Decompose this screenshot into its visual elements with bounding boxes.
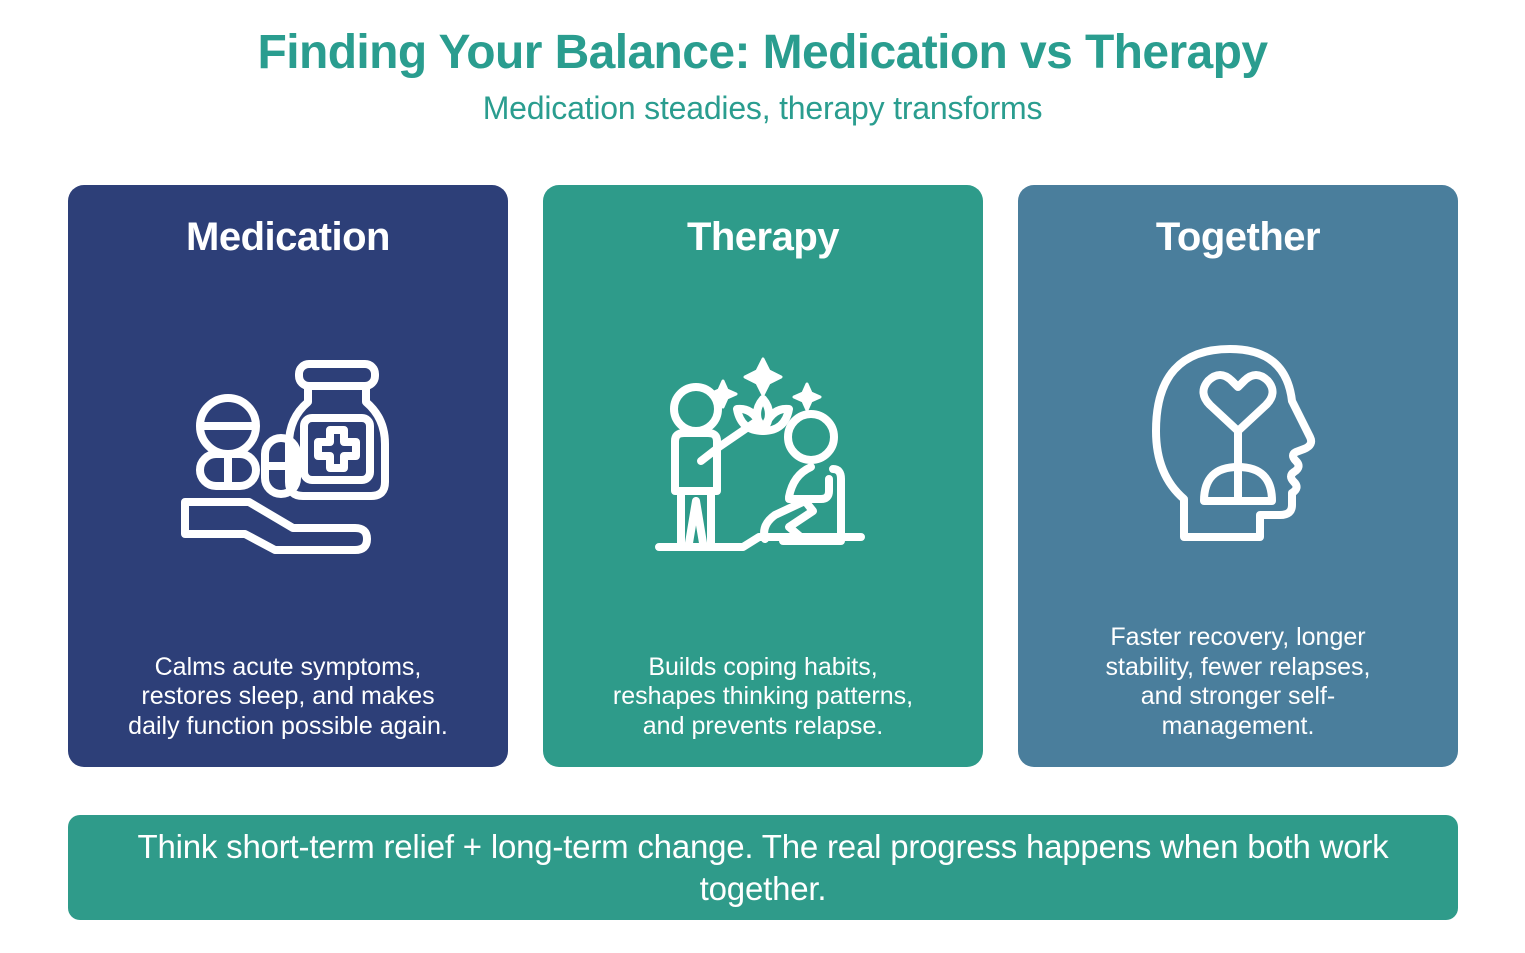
cards-row: Medication bbox=[68, 185, 1458, 767]
card-together-description: Faster recovery, longer stability, fewer… bbox=[1080, 623, 1396, 741]
card-therapy-title: Therapy bbox=[687, 215, 839, 259]
card-together: Together Faster recovery, longer stabili… bbox=[1018, 185, 1458, 767]
card-medication: Medication bbox=[68, 185, 508, 767]
card-medication-title: Medication bbox=[186, 215, 390, 259]
pill-bottle-in-hand-icon bbox=[86, 259, 490, 653]
card-therapy-description: Builds coping habits, reshapes thinking … bbox=[590, 653, 936, 742]
page-title: Finding Your Balance: Medication vs Ther… bbox=[0, 26, 1525, 80]
card-together-title: Together bbox=[1156, 215, 1320, 259]
header: Finding Your Balance: Medication vs Ther… bbox=[0, 0, 1525, 127]
two-people-counselling-icon bbox=[561, 259, 965, 653]
page-subtitle: Medication steadies, therapy transforms bbox=[0, 90, 1525, 127]
head-with-heart-flower-icon bbox=[1036, 259, 1440, 623]
footer-banner: Think short-term relief + long-term chan… bbox=[68, 815, 1458, 920]
infographic-page: Finding Your Balance: Medication vs Ther… bbox=[0, 0, 1525, 953]
footer-banner-text: Think short-term relief + long-term chan… bbox=[108, 826, 1418, 909]
card-medication-description: Calms acute symptoms, restores sleep, an… bbox=[110, 653, 466, 742]
card-therapy: Therapy bbox=[543, 185, 983, 767]
